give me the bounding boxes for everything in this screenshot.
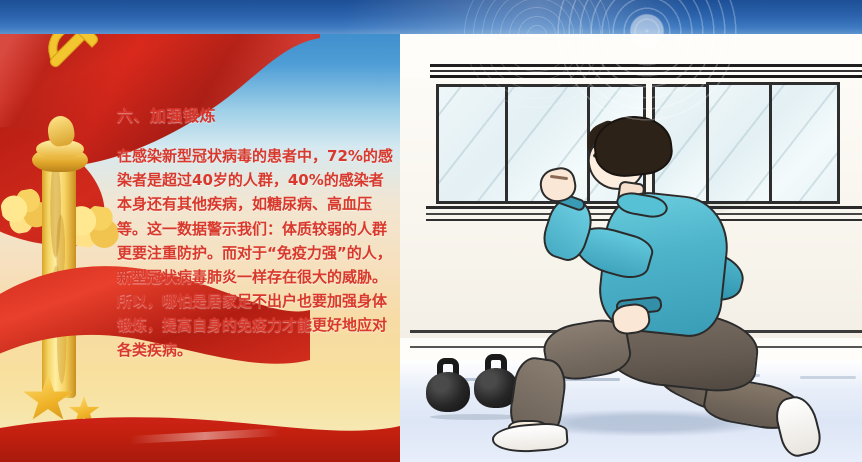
kettlebell-1: [426, 358, 470, 414]
banner-sheen: [0, 0, 862, 34]
poster-screenshot: 六、加强锻炼 在感染新型冠状病毒的患者中，72%的感染者是超过40岁的人群，40…: [0, 0, 862, 462]
poster-left-panel: 六、加强锻炼 在感染新型冠状病毒的患者中，72%的感染者是超过40岁的人群，40…: [0, 0, 400, 462]
huabiao-column: [8, 112, 118, 402]
poster-text-block: 六、加强锻炼 在感染新型冠状病毒的患者中，72%的感染者是超过40岁的人群，40…: [117, 102, 395, 362]
poster-heading: 六、加强锻炼: [117, 102, 395, 126]
column-finial-beast: [46, 114, 76, 147]
blue-tech-banner: [0, 0, 862, 34]
front-shoe: [491, 421, 569, 454]
back-shoe: [771, 392, 824, 460]
red-ribbon-bottom: [0, 414, 400, 462]
ribbon-highlight: [130, 428, 280, 444]
poster-body-text: 在感染新型冠状病毒的患者中，72%的感染者是超过40岁的人群，40%的感染者本身…: [117, 144, 395, 362]
kettlebell-body: [426, 372, 470, 412]
person-exercising: [490, 90, 830, 462]
